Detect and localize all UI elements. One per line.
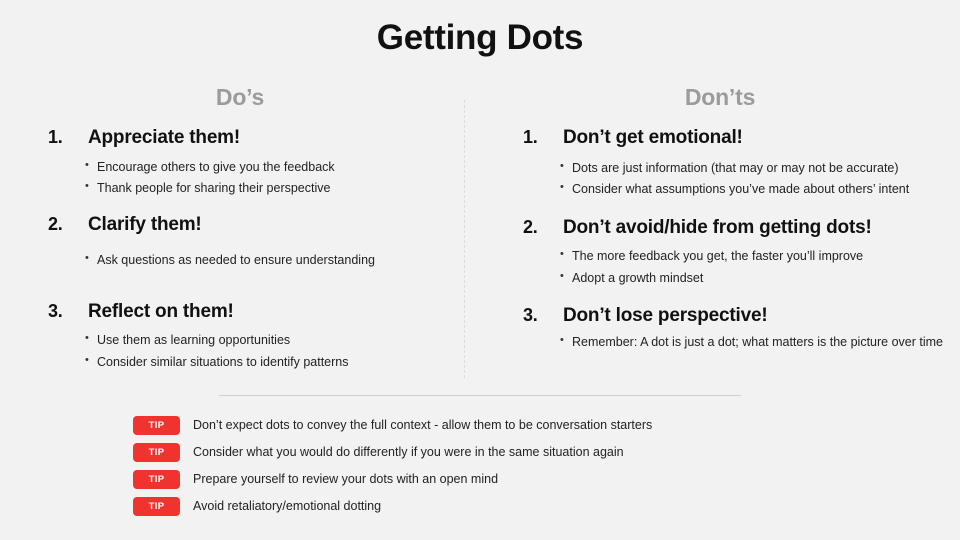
dos-item-1-number: 1. (48, 124, 88, 150)
tip-row: TIP Consider what you would do different… (133, 439, 652, 466)
donts-item-2-number: 2. (523, 214, 563, 240)
dos-item-1-title: Appreciate them! (88, 124, 448, 152)
list-item: Consider similar situations to identify … (85, 352, 448, 374)
donts-item-3-heading: 3. Don’t lose perspective! (523, 302, 958, 330)
donts-column: 1. Don’t get emotional! Dots are just in… (523, 124, 958, 355)
donts-item-3: 3. Don’t lose perspective! Remember: A d… (523, 302, 958, 353)
donts-item-2-heading: 2. Don’t avoid/hide from getting dots! (523, 214, 958, 242)
dos-item-1-bullets: Encourage others to give you the feedbac… (48, 157, 448, 200)
tip-text: Consider what you would do differently i… (193, 444, 624, 460)
dos-item-3: 3. Reflect on them! Use them as learning… (48, 298, 448, 374)
donts-item-1-bullets: Dots are just information (that may or m… (523, 158, 958, 201)
dos-item-2-title: Clarify them! (88, 211, 448, 239)
list-item: Encourage others to give you the feedbac… (85, 157, 448, 179)
list-item: Thank people for sharing their perspecti… (85, 178, 448, 200)
donts-item-2: 2. Don’t avoid/hide from getting dots! T… (523, 214, 958, 290)
list-item: The more feedback you get, the faster yo… (560, 246, 958, 268)
tip-text: Don’t expect dots to convey the full con… (193, 417, 652, 433)
page-title: Getting Dots (0, 18, 960, 58)
dos-column: 1. Appreciate them! Encourage others to … (48, 124, 448, 375)
dos-item-3-number: 3. (48, 298, 88, 324)
tip-row: TIP Prepare yourself to review your dots… (133, 466, 652, 493)
list-item: Remember: A dot is just a dot; what matt… (560, 332, 958, 354)
vertical-divider (464, 100, 465, 378)
donts-item-1-heading: 1. Don’t get emotional! (523, 124, 958, 152)
list-item: Consider what assumptions you’ve made ab… (560, 179, 958, 201)
list-item: Dots are just information (that may or m… (560, 158, 958, 180)
tip-badge: TIP (133, 470, 180, 489)
tip-text: Avoid retaliatory/emotional dotting (193, 498, 381, 514)
dos-item-2: 2. Clarify them! Ask questions as needed… (48, 211, 448, 272)
tip-text: Prepare yourself to review your dots wit… (193, 471, 498, 487)
dos-item-3-heading: 3. Reflect on them! (48, 298, 448, 326)
column-header-dos: Do’s (0, 84, 480, 111)
donts-item-3-number: 3. (523, 302, 563, 328)
tips-section: TIP Don’t expect dots to convey the full… (133, 412, 652, 520)
tip-row: TIP Avoid retaliatory/emotional dotting (133, 493, 652, 520)
donts-item-1: 1. Don’t get emotional! Dots are just in… (523, 124, 958, 201)
dos-item-2-heading: 2. Clarify them! (48, 211, 448, 239)
column-header-donts: Don’ts (480, 84, 960, 111)
list-item: Adopt a growth mindset (560, 268, 958, 290)
list-item: Use them as learning opportunities (85, 330, 448, 352)
list-item: Ask questions as needed to ensure unders… (85, 250, 448, 272)
donts-item-3-bullets: Remember: A dot is just a dot; what matt… (523, 332, 958, 354)
donts-item-1-title: Don’t get emotional! (563, 124, 958, 152)
tip-badge: TIP (133, 416, 180, 435)
dos-item-1: 1. Appreciate them! Encourage others to … (48, 124, 448, 200)
dos-item-1-heading: 1. Appreciate them! (48, 124, 448, 152)
dos-item-3-title: Reflect on them! (88, 298, 448, 326)
dos-item-2-bullets: Ask questions as needed to ensure unders… (48, 250, 448, 272)
donts-item-2-bullets: The more feedback you get, the faster yo… (523, 246, 958, 289)
dos-item-2-number: 2. (48, 211, 88, 237)
horizontal-divider (219, 395, 741, 396)
donts-item-2-title: Don’t avoid/hide from getting dots! (563, 214, 958, 242)
slide-canvas: Getting Dots Do’s Don’ts 1. Appreciate t… (0, 0, 960, 540)
dos-item-3-bullets: Use them as learning opportunities Consi… (48, 330, 448, 373)
tip-badge: TIP (133, 443, 180, 462)
donts-item-1-number: 1. (523, 124, 563, 150)
tip-badge: TIP (133, 497, 180, 516)
donts-item-3-title: Don’t lose perspective! (563, 302, 958, 330)
tip-row: TIP Don’t expect dots to convey the full… (133, 412, 652, 439)
